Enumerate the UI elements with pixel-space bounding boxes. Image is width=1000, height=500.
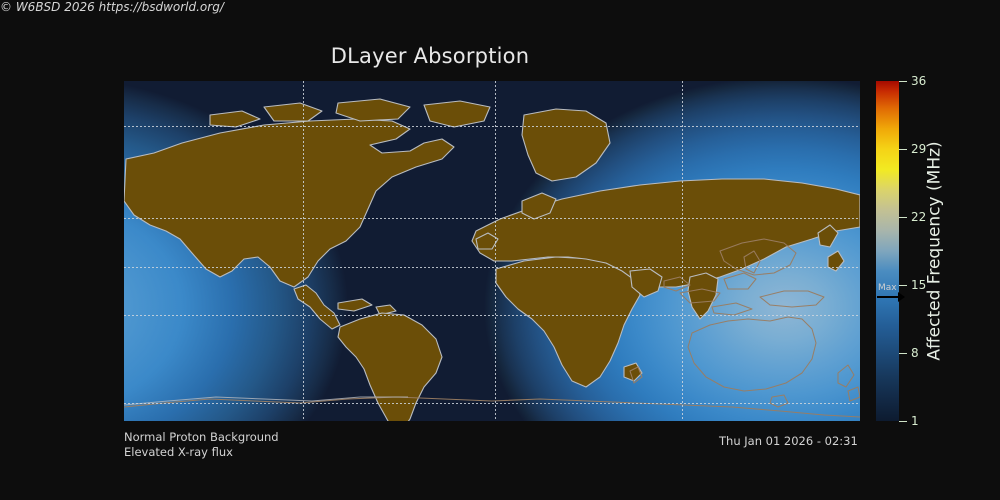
page-title: DLayer Absorption	[0, 44, 860, 68]
colorbar[interactable]	[876, 81, 899, 421]
colorbar-tick-label: 1	[911, 414, 919, 428]
max-marker-arrow-line	[877, 296, 900, 298]
colorbar-tick-mark	[899, 217, 907, 218]
status-xray: Elevated X-ray flux	[124, 445, 233, 459]
max-marker-arrow-head	[898, 292, 905, 302]
timestamp: Thu Jan 01 2026 - 02:31	[719, 434, 858, 448]
max-absorption-marker: Max	[877, 284, 903, 306]
map-canvas	[124, 81, 860, 421]
colorbar-tick-mark	[899, 353, 907, 354]
colorbar-axis-label-text: Affected Frequency (MHz)	[925, 141, 945, 360]
world-map[interactable]	[124, 81, 860, 421]
colorbar-axis-label: Affected Frequency (MHz)	[921, 81, 949, 421]
dlayer-absorption-view: DLayer Absorption	[0, 0, 1000, 500]
colorbar-tick-label: 8	[911, 346, 919, 360]
colorbar-tick-mark	[899, 149, 907, 150]
status-proton: Normal Proton Background	[124, 430, 279, 444]
copyright-notice: © W6BSD 2026 https://bsdworld.org/	[0, 0, 1000, 14]
colorbar-gradient	[876, 81, 899, 421]
max-marker-label: Max	[878, 283, 897, 293]
colorbar-tick-mark	[899, 81, 907, 82]
colorbar-tick-mark	[899, 421, 907, 422]
